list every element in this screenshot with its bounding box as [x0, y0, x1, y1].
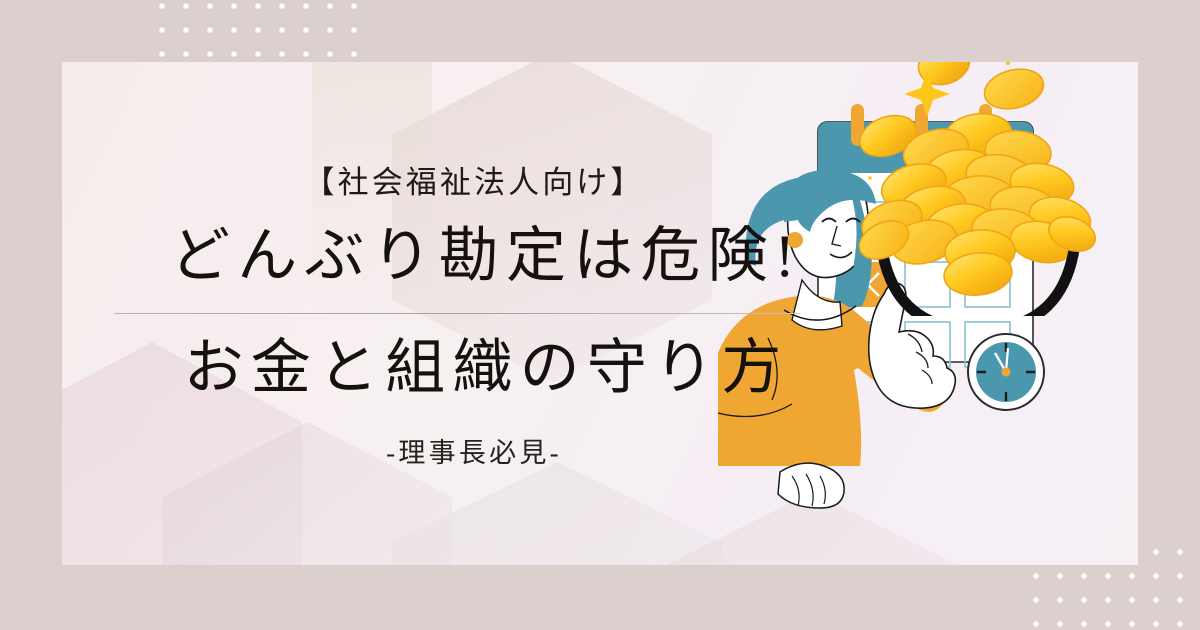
content-panel: 【社会福祉法人向け】 どんぶり勘定は危険! お金と組織の守り方 -理事長必見-	[62, 62, 1138, 565]
headline-line-2: お金と組織の守り方	[114, 332, 882, 405]
clock-icon	[968, 334, 1044, 410]
headline-block: 【社会福祉法人向け】 どんぶり勘定は危険! お金と組織の守り方 -理事長必見-	[62, 62, 882, 565]
dot-pattern-top-left	[150, 0, 370, 68]
eyebrow-text: 【社会福祉法人向け】	[114, 157, 882, 202]
headline-line-1: どんぶり勘定は危険!	[114, 220, 882, 293]
coin	[980, 63, 1047, 114]
clock-center-dot	[1002, 368, 1011, 377]
headline-divider	[114, 313, 800, 314]
subline-text: -理事長必見-	[114, 431, 882, 470]
sparkle-dot	[1006, 62, 1010, 65]
banner-root: 【社会福祉法人向け】 どんぶり勘定は危険! お金と組織の守り方 -理事長必見-	[0, 0, 1200, 630]
